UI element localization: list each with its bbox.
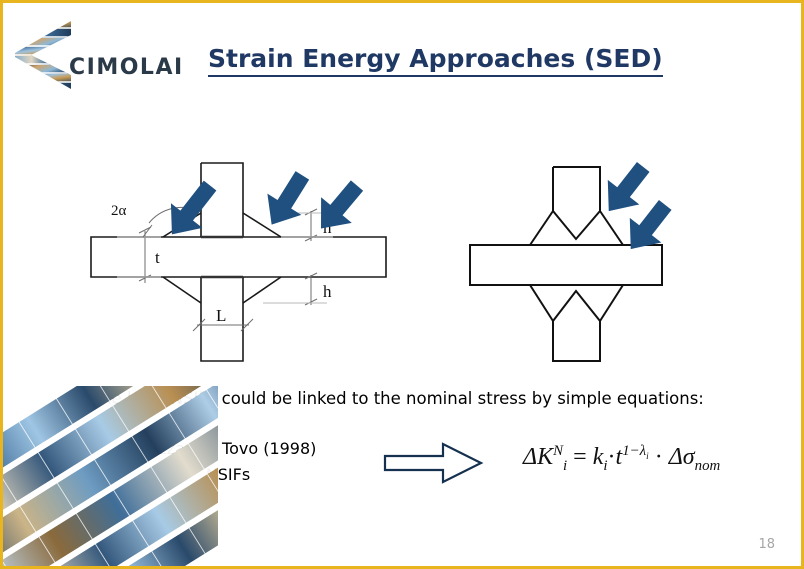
figure-cruciform-joint-v-welds xyxy=(458,153,748,388)
reference-caption: Lazzarin - Tovo (1998) NSIFs xyxy=(123,436,333,488)
formula-t-exp-lambda-sub: i xyxy=(646,451,649,461)
cimolai-chevron-logo-icon xyxy=(13,19,75,91)
right-arrow-outline-icon xyxy=(381,440,485,486)
nsif-equation: ΔKNi = ki·t1−λi · Δσnom xyxy=(523,443,720,475)
formula-k-symbol: k xyxy=(593,444,604,470)
formula-dot-1: · xyxy=(608,444,616,470)
formula-rhs-sub: nom xyxy=(695,458,721,474)
figure-cruciform-joint-dimensioned: t h h L 2α xyxy=(83,153,413,388)
dimension-label-angle: 2α xyxy=(111,203,127,219)
dimension-label-h-lower: h xyxy=(323,282,332,301)
formula-lhs-symbol: K xyxy=(537,444,553,470)
formula-t-exp-one: 1− xyxy=(622,443,639,459)
dimension-label-thickness: t xyxy=(155,248,160,267)
formula-dot-2: · xyxy=(655,444,663,470)
slide-canvas: CIMOLAI Strain Energy Approaches (SED) xyxy=(0,0,804,569)
formula-lhs-sub: i xyxy=(563,458,567,474)
statement-text: The local NSIFs could be linked to the n… xyxy=(91,389,704,408)
reference-line-1: Lazzarin - Tovo (1998) xyxy=(123,436,333,462)
formula-rhs-sigma: σ xyxy=(683,444,695,470)
brand-wordmark: CIMOLAI xyxy=(69,55,184,80)
formula-equals: = xyxy=(573,444,587,470)
load-arrow-group xyxy=(156,165,372,247)
page-number: 18 xyxy=(758,537,775,552)
formula-lhs-delta: Δ xyxy=(523,444,537,470)
reference-line-2: NSIFs xyxy=(123,462,333,488)
brand-logo: CIMOLAI xyxy=(11,19,183,91)
formula-lhs-sup: N xyxy=(553,443,563,459)
page-title: Strain Energy Approaches (SED) xyxy=(208,44,663,77)
dimension-label-L: L xyxy=(216,306,226,325)
formula-t-exponent: 1−λi xyxy=(622,443,649,459)
formula-rhs-delta: Δ xyxy=(669,444,683,470)
